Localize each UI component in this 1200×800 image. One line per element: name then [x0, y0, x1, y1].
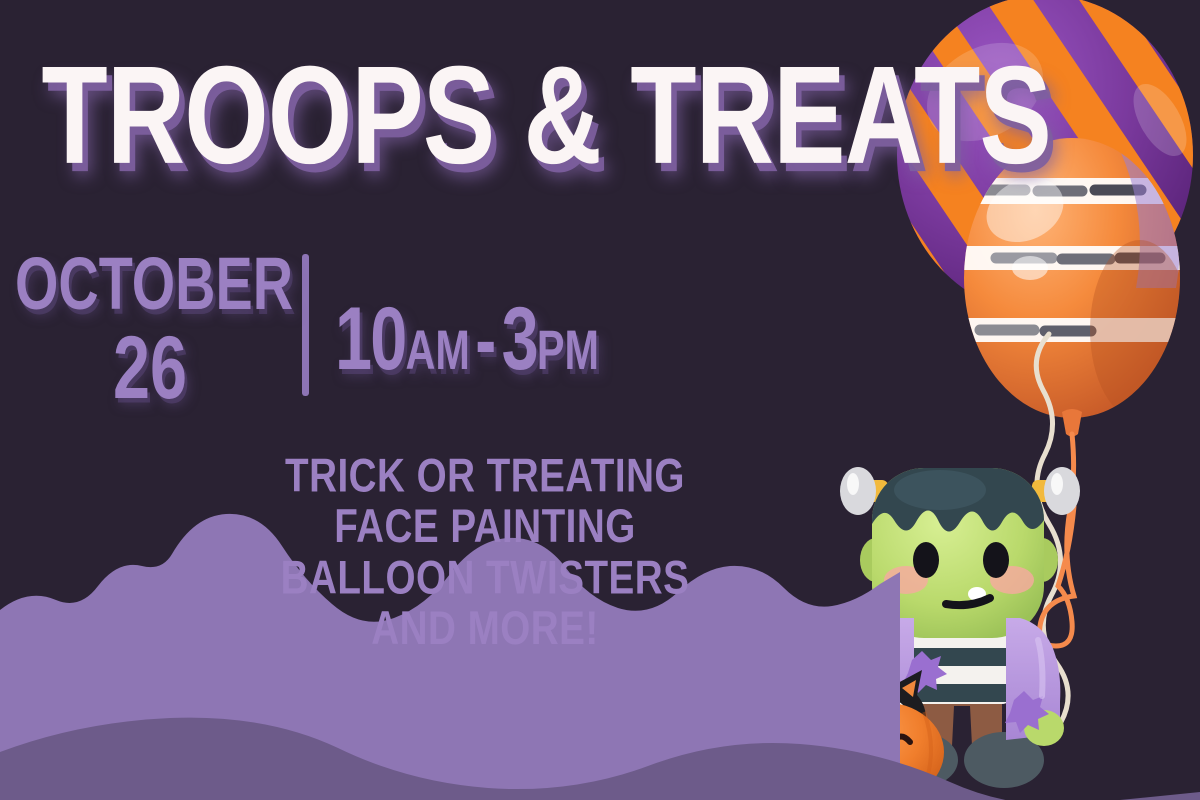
activity-item: TRICK OR TREATING — [39, 450, 931, 501]
event-month: OCTOBER — [15, 249, 285, 322]
activity-item: FACE PAINTING — [39, 501, 931, 552]
event-day: 26 — [15, 325, 285, 412]
time-dash: - — [470, 293, 502, 387]
vertical-divider — [302, 254, 309, 396]
time-start-period: AM — [405, 318, 469, 380]
activity-item: BALLOON TWISTERS — [39, 552, 931, 603]
time-end-period: PM — [537, 318, 599, 380]
halloween-event-flyer: TROOPS & TREATS OCTOBER 26 10AM-3PM TRIC… — [0, 0, 1200, 800]
activities-list: TRICK OR TREATING FACE PAINTING BALLOON … — [39, 450, 931, 653]
time-start-number: 10 — [335, 288, 405, 388]
date-time-row: OCTOBER 26 10AM-3PM — [0, 238, 760, 396]
time-end-number: 3 — [502, 288, 537, 388]
event-date: OCTOBER 26 — [15, 249, 285, 411]
activity-item: AND MORE! — [39, 602, 931, 653]
page-title: TROOPS & TREATS — [41, 46, 993, 185]
event-time: 10AM-3PM — [335, 287, 599, 389]
